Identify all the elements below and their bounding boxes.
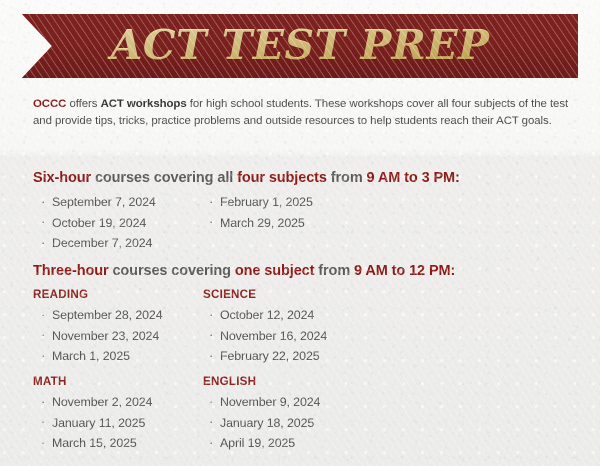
banner-ribbon: ACT TEST PREP — [22, 14, 578, 78]
six-hour-heading-mid-2: from — [327, 170, 367, 186]
list-item: October 12, 2024 — [208, 305, 327, 326]
list-item: September 7, 2024 — [40, 192, 156, 213]
list-item: November 9, 2024 — [208, 392, 320, 413]
list-item: February 1, 2025 — [208, 192, 313, 213]
list-item: December 7, 2024 — [40, 233, 156, 254]
intro-org-name: OCCC — [33, 98, 66, 110]
subject-heading-english: ENGLISH — [203, 375, 256, 388]
six-hour-heading-bold-2: four subjects — [237, 170, 327, 186]
act-test-prep-poster: ACT TEST PREP OCCC offers ACT workshops … — [0, 0, 600, 466]
list-item: February 22, 2025 — [208, 346, 327, 367]
list-item: October 19, 2024 — [40, 213, 156, 234]
three-hour-heading-bold-1: Three-hour — [33, 263, 109, 279]
banner-title: ACT TEST PREP — [22, 14, 578, 78]
intro-workshops-label: ACT workshops — [101, 98, 187, 110]
list-item: January 18, 2025 — [208, 413, 320, 434]
intro-text-1: offers — [66, 98, 100, 110]
three-hour-heading-mid-1: courses covering — [109, 263, 235, 279]
subject-heading-reading: READING — [33, 288, 88, 301]
three-hour-heading-bold-2: one subject — [235, 263, 314, 279]
subject-dates-reading: September 28, 2024 November 23, 2024 Mar… — [40, 305, 162, 367]
list-item: March 1, 2025 — [40, 346, 162, 367]
list-item: March 15, 2025 — [40, 433, 152, 454]
subject-dates-english: November 9, 2024 January 18, 2025 April … — [208, 392, 320, 454]
six-hour-heading-bold-1: Six-hour — [33, 170, 91, 186]
six-hour-heading-mid-1: courses covering all — [91, 170, 237, 186]
subject-heading-science: SCIENCE — [203, 288, 256, 301]
six-hour-dates-column-1: September 7, 2024 October 19, 2024 Decem… — [40, 192, 156, 254]
list-item: September 28, 2024 — [40, 305, 162, 326]
list-item: November 23, 2024 — [40, 326, 162, 347]
six-hour-heading: Six-hour courses covering all four subje… — [33, 170, 460, 186]
subject-dates-math: November 2, 2024 January 11, 2025 March … — [40, 392, 152, 454]
schedule-section: Six-hour courses covering all four subje… — [0, 155, 600, 466]
list-item: November 2, 2024 — [40, 392, 152, 413]
subject-heading-math: MATH — [33, 375, 67, 388]
three-hour-heading-mid-2: from — [314, 263, 354, 279]
list-item: April 19, 2025 — [208, 433, 320, 454]
list-item: January 11, 2025 — [40, 413, 152, 434]
three-hour-heading-bold-3: 9 AM to 12 PM: — [354, 263, 455, 279]
six-hour-heading-bold-3: 9 AM to 3 PM: — [367, 170, 460, 186]
intro-paragraph: OCCC offers ACT workshops for high schoo… — [33, 96, 573, 129]
three-hour-heading: Three-hour courses covering one subject … — [33, 263, 455, 279]
list-item: March 29, 2025 — [208, 213, 313, 234]
subject-dates-science: October 12, 2024 November 16, 2024 Febru… — [208, 305, 327, 367]
list-item: November 16, 2024 — [208, 326, 327, 347]
six-hour-dates-column-2: February 1, 2025 March 29, 2025 — [208, 192, 313, 233]
